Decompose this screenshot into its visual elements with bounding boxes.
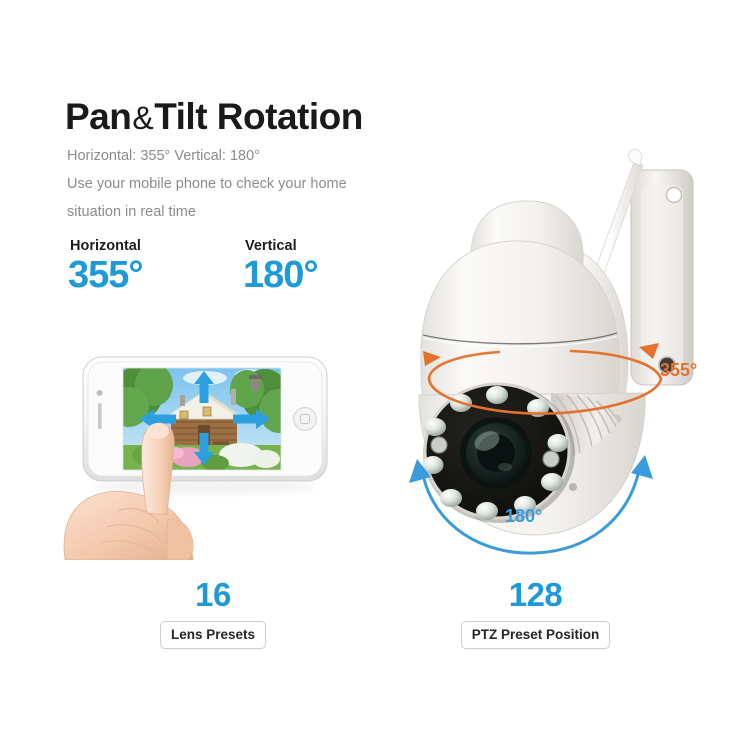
counter-lens-number: 16 [133,578,293,611]
phone-mockup [55,345,355,560]
light-sensor [431,437,447,453]
counter-ptz-badge[interactable]: PTZ Preset Position [461,621,611,649]
tilt-annotation-label: 180° [505,506,542,527]
subtitle-line-3: situation in real time [67,204,196,220]
mount-screw-hole [667,188,682,203]
counter-ptz-number: 128 [443,578,628,611]
fingertip [147,423,169,439]
stat-horizontal: Horizontal 355° [68,238,143,294]
home-button[interactable] [294,408,317,431]
housing-screw [569,483,577,491]
counter-lens-badge[interactable]: Lens Presets [160,621,266,649]
lens-reflection [498,463,512,471]
stat-vertical: Vertical 180° [243,238,318,294]
lens-assembly [423,383,576,523]
phone-illustration [55,345,355,560]
page-title: Pan&Tilt Rotation [65,96,363,138]
stat-horizontal-value: 355° [68,256,143,294]
stat-vertical-value: 180° [243,256,318,294]
page-title-part1: Pan [65,96,131,137]
counter-ptz-presets: 128 PTZ Preset Position [443,578,628,649]
subtitle-line-1: Horizontal: 355° Vertical: 180° [67,148,260,164]
pan-annotation-label: 355° [660,360,697,381]
stat-horizontal-caption: Horizontal [70,238,143,254]
subtitle-line-2: Use your mobile phone to check your home [67,176,347,192]
counter-lens-presets: 16 Lens Presets [133,578,293,649]
front-camera-icon [97,390,103,396]
light-sensor [543,451,559,467]
scene-flowers-white [252,450,280,468]
stat-vertical-caption: Vertical [245,238,318,254]
page-title-ampersand: & [131,100,154,136]
marketing-banner: Pan&Tilt Rotation Horizontal: 355° Verti… [0,0,750,750]
ptz-camera-illustration: Sricam® [395,35,735,555]
page-title-part2: Tilt Rotation [154,96,363,137]
wall-mount-bracket [631,170,693,385]
ptz-camera: Sricam® [395,35,735,555]
earpiece-speaker-icon [98,403,102,429]
